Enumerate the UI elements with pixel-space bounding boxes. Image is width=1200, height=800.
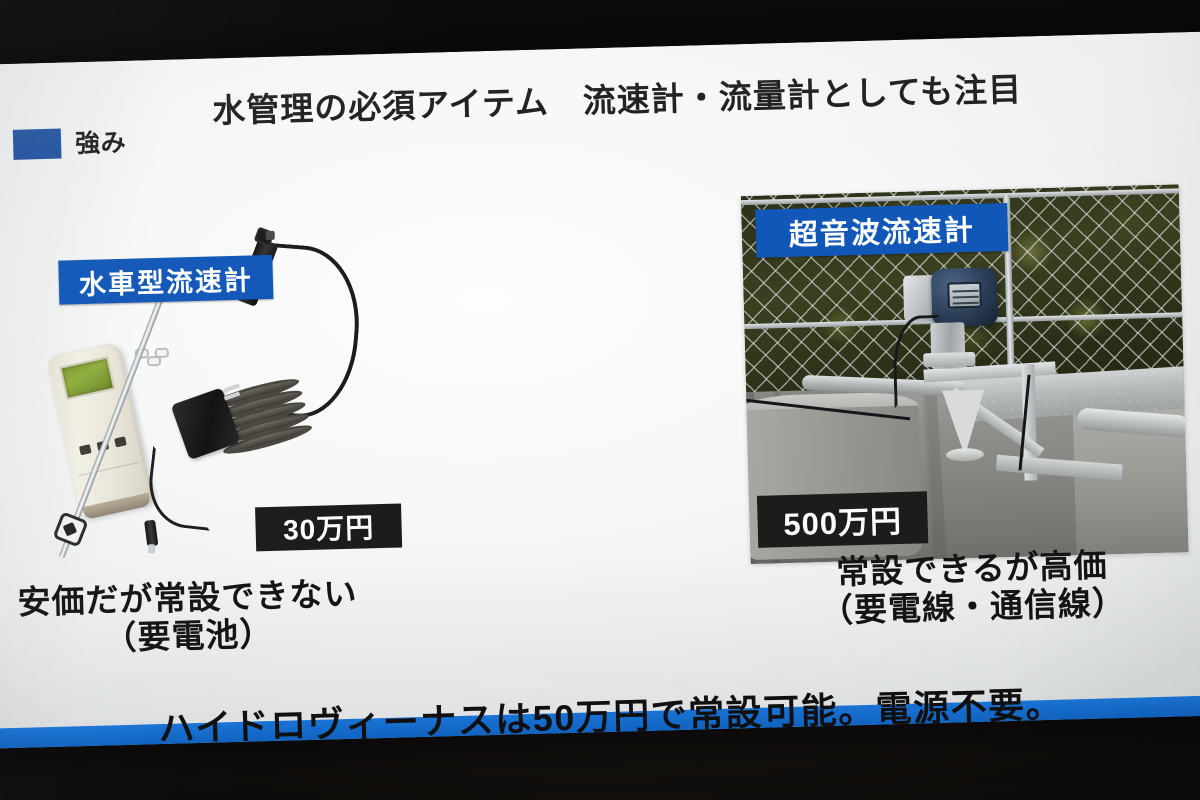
adapter-cable [144, 446, 218, 531]
presentation-slide: 強み 水管理の必須アイテム 流速計・流量計としても注目 [0, 31, 1200, 749]
display-line [953, 296, 979, 299]
propeller-sensor-head [52, 511, 89, 548]
display-line [953, 302, 979, 305]
display-line [952, 290, 978, 293]
right-caption: 常設できるが高価 （要電線・通信線） [757, 544, 1189, 631]
slide-title: 水管理の必須アイテム 流速計・流量計としても注目 [212, 63, 1023, 133]
left-product-badge: 水車型流速計 [58, 255, 273, 305]
slide-summary-line: ハイドロヴィーナスは50万円で常設可能。電源不要。 [0, 671, 1200, 749]
header-blue-marker [13, 129, 62, 160]
dc-plug [144, 520, 158, 547]
clip-ring [155, 348, 169, 358]
dc-plug-tip [148, 544, 155, 553]
slide-canvas: 強み 水管理の必須アイテム 流速計・流量計としても注目 [0, 31, 1200, 749]
projection-stage: 強み 水管理の必須アイテム 流速計・流量計としても注目 [0, 0, 1200, 800]
meter-lcd-screen [59, 356, 115, 400]
meter-button [114, 436, 127, 447]
right-product-photo: 超音波流速計 500万円 [741, 184, 1189, 564]
left-product-photo: 水車型流速計 30万円 [33, 221, 412, 583]
header-kicker-label: 強み [75, 123, 127, 160]
right-caption-line1: 常設できるが高価 [836, 546, 1108, 590]
right-product-badge: 超音波流速計 [755, 203, 1008, 258]
right-caption-line2: （要電線・通信線） [758, 582, 1189, 631]
ultrasonic-horn-sensor [942, 390, 986, 457]
meter-base [82, 492, 151, 519]
left-caption: 安価だが常設できない （要電池） [0, 574, 399, 661]
rod-top-connector-nub [266, 231, 275, 240]
ultrasonic-transmitter-head [931, 267, 999, 327]
left-price-badge: 30万円 [255, 503, 402, 551]
meter-button [79, 444, 92, 455]
right-price-badge: 500万円 [757, 491, 928, 548]
meter-seam-line [78, 462, 139, 476]
transmitter-display [947, 282, 982, 309]
